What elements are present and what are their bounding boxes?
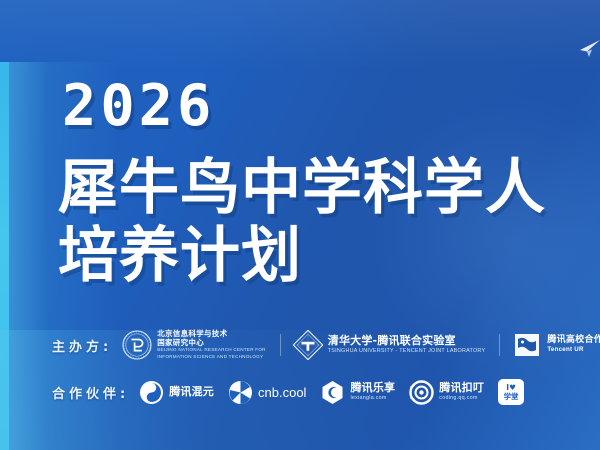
coding-name-en: coding.qq.com [439, 396, 484, 402]
cnb-cool-icon [228, 380, 253, 405]
tencent-lexiang-icon [320, 380, 345, 405]
tencent-hunyuan-icon [139, 380, 164, 405]
i-love-xuetang-icon: I♥ 学堂 [498, 379, 524, 405]
lexiang-name-cn: 腾讯乐享 [350, 382, 395, 394]
tencent-coding-icon [409, 380, 434, 405]
title-line-1: 犀牛鸟中学科学人 [58, 158, 546, 218]
tencent-ur-icon [512, 331, 542, 359]
partner-logo-lexiang[interactable]: 腾讯乐享 lexiangla.com [320, 380, 395, 405]
cnb-name-en: cnb.cool [258, 386, 306, 400]
lexiang-name-en: lexiangla.com [350, 396, 395, 402]
partners-row: 合作伙伴: 腾讯混元 cnb.cool [52, 379, 538, 405]
partner-logo-cnb[interactable]: cnb.cool [228, 380, 306, 405]
hosts-divider-1 [280, 334, 281, 356]
hosts-divider-2 [499, 334, 500, 356]
host-logo-bnrist[interactable]: 北京信息科学与技术 国家研究中心 BEIJING NATIONAL RESEAR… [122, 330, 266, 360]
xuetang-line-1: I♥ [506, 384, 516, 392]
lexiang-text: 腾讯乐享 lexiangla.com [350, 382, 395, 401]
paper-plane-icon [578, 40, 600, 58]
top-sheen-overlay [0, 0, 600, 70]
partner-logo-coding[interactable]: 腾讯扣叮 coding.qq.com [409, 380, 484, 405]
cnb-text: cnb.cool [258, 384, 306, 400]
xuetang-line-2: 学堂 [504, 393, 519, 401]
tsinghua-tencent-text: 清华大学-腾讯联合实验室 TSINGHUA UNIVERSITY - TENCE… [328, 335, 486, 354]
bnrist-text: 北京信息科学与技术 国家研究中心 BEIJING NATIONAL RESEAR… [157, 330, 266, 359]
left-accent-strip [0, 62, 9, 450]
tsinghua-tencent-name-en: TSINGHUA UNIVERSITY - TENCENT JOINT LABO… [328, 349, 486, 355]
coding-text: 腾讯扣叮 coding.qq.com [439, 382, 484, 401]
bnrist-name-en-2: INFORMATION SCIENCE AND TECHNOLOGY [157, 355, 266, 360]
hunyuan-name-cn: 腾讯混元 [169, 386, 214, 398]
tsinghua-tencent-lab-icon [293, 330, 323, 360]
hunyuan-text: 腾讯混元 [169, 386, 214, 398]
bnrist-seal-icon [122, 330, 152, 360]
title-line-2: 培养计划 [58, 226, 302, 286]
partner-logo-hunyuan[interactable]: 腾讯混元 [139, 380, 214, 405]
host-logo-tsinghua-tencent[interactable]: 清华大学-腾讯联合实验室 TSINGHUA UNIVERSITY - TENCE… [293, 330, 486, 360]
poster-banner: 2026 犀牛鸟中学科学人 培养计划 主办方: 北京信息科学与技术 国家研究中心… [0, 0, 600, 450]
hosts-row: 主办方: 北京信息科学与技术 国家研究中心 BEIJING NATIONAL R… [52, 330, 600, 360]
hosts-label: 主办方: [52, 336, 112, 355]
tsinghua-tencent-name-cn: 清华大学-腾讯联合实验室 [328, 335, 486, 347]
partner-logo-xuetang[interactable]: I♥ 学堂 [498, 379, 524, 405]
bnrist-name-en-1: BEIJING NATIONAL RESEARCH CENTER FOR [157, 348, 266, 353]
host-logo-tencent-ur[interactable]: 腾讯高校合作 Tencent UR [512, 331, 600, 359]
coding-name-cn: 腾讯扣叮 [439, 382, 484, 394]
tencent-ur-text: 腾讯高校合作 Tencent UR [547, 336, 600, 354]
year-heading: 2026 [62, 78, 215, 135]
bnrist-name-cn-2: 国家研究中心 [157, 339, 266, 347]
partners-label: 合作伙伴: [52, 383, 129, 402]
tencent-ur-name-cn: 腾讯高校合作 [547, 336, 600, 346]
tencent-ur-name-en: Tencent UR [547, 347, 600, 354]
